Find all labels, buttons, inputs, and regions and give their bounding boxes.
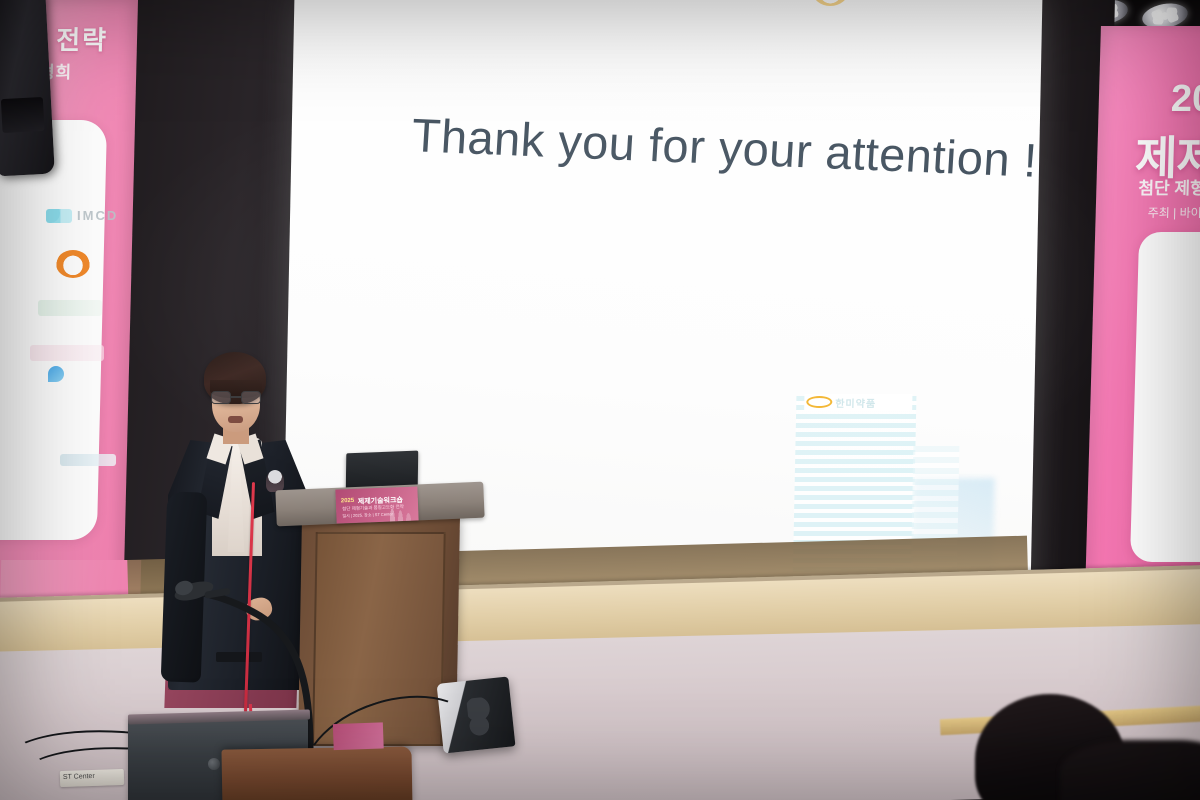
sponsor-logo-teal	[60, 454, 116, 466]
case-knob-icon	[208, 758, 220, 770]
slide-company-logo: Hanmi Pharm. Co., Ltd	[812, 0, 1042, 6]
podium-placard-year: 2025	[341, 498, 355, 505]
imcd-mark-icon	[46, 209, 72, 223]
glasses-lens-right	[241, 391, 261, 404]
hanmi-ring-logo-icon	[812, 0, 849, 6]
presenter-arm-left	[161, 491, 208, 682]
banner-right-white-card	[1130, 232, 1200, 562]
presenter-mouth	[228, 416, 243, 423]
sponsor-logo-pink	[30, 345, 104, 361]
foreground-table	[221, 746, 412, 800]
banner-left-white-card	[0, 120, 107, 540]
building-roof-sign: 한미약품	[804, 394, 912, 410]
slide-company-logo-label: Hanmi Pharm. Co., Ltd	[856, 0, 1042, 1]
power-strip: ST Center	[60, 769, 125, 787]
banner-right-subtitle: 첨단 제형기술과	[1138, 174, 1200, 199]
sponsor-logo-hanmi-icon	[56, 250, 90, 278]
sponsor-logo-blue	[48, 366, 68, 382]
sponsor-logo-green	[38, 300, 102, 316]
banner-right-year: 20	[1170, 78, 1200, 121]
audience-member-shoulder	[1060, 740, 1200, 800]
podium-placard-note: 일시 | 2025. 장소 | ST Center	[342, 511, 393, 519]
power-strip-label: ST Center	[63, 773, 95, 781]
building-sign-text: 한미약품	[835, 395, 876, 410]
banner-right-host: 주최 | 바이오	[1147, 204, 1200, 221]
presenter-belt	[216, 652, 262, 662]
glasses-lens-left	[211, 391, 231, 404]
glasses-bridge	[231, 396, 241, 398]
presentation-photo-scene: 발 전략 오형희 IMCD Hanmi Pharm. Co., Ltd Than…	[0, 0, 1200, 800]
sponsor-logo-imcd: IMCD	[46, 208, 118, 223]
sponsor-logo-imcd-label: IMCD	[77, 208, 118, 223]
pa-speaker-box	[0, 0, 55, 176]
hanmi-ring-logo-icon	[806, 396, 832, 408]
podium-placard: 2025 제제기술워크숍 첨단 제형기술과 품질고도화 전략 일시 | 2025…	[335, 486, 418, 523]
foreground-table-placard	[333, 722, 384, 750]
blue-drop-icon	[48, 366, 64, 382]
slide-headline: Thank you for your attention !	[410, 107, 1039, 188]
glasses-icon	[211, 391, 261, 404]
